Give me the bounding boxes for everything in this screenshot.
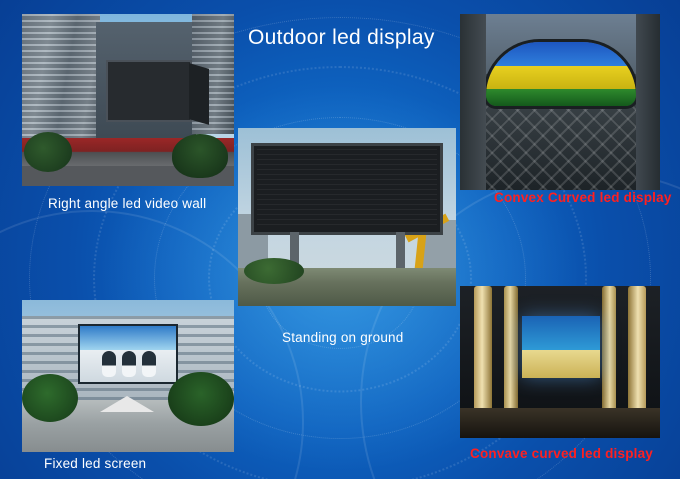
photo-image bbox=[460, 14, 660, 190]
photo-image bbox=[22, 300, 234, 452]
page-title: Outdoor led display bbox=[248, 26, 435, 50]
tree-left bbox=[22, 374, 78, 422]
photo-concave-curved-led-display bbox=[460, 286, 660, 438]
bush bbox=[244, 258, 304, 284]
screen-content-penguin-3 bbox=[142, 351, 156, 377]
screen-content-lower bbox=[522, 350, 600, 378]
photo-image bbox=[238, 128, 456, 306]
screen-content-sky bbox=[80, 326, 176, 350]
concave-led-screen bbox=[522, 316, 600, 378]
caption-fixed-led-screen: Fixed led screen bbox=[44, 456, 146, 471]
screen-content-field bbox=[486, 66, 636, 89]
atrium-floor bbox=[460, 408, 660, 438]
led-video-wall-side bbox=[189, 63, 209, 125]
photo-fixed-led-screen bbox=[22, 300, 234, 452]
tree-left bbox=[24, 132, 72, 172]
screen-content-penguin-1 bbox=[102, 351, 116, 377]
facade-right-wing bbox=[636, 14, 660, 190]
photo-convex-curved-led-display bbox=[460, 14, 660, 190]
caption-concave-curved-led-display: Convave curved led display bbox=[470, 446, 653, 461]
fixed-led-screen-panel bbox=[80, 326, 176, 382]
tree-right bbox=[168, 372, 234, 426]
photo-image bbox=[22, 14, 234, 186]
caption-convex-curved-led-display: Convex Curved led display bbox=[494, 190, 672, 205]
poster-canvas: Outdoor led display Right angle led vide… bbox=[0, 0, 680, 479]
caption-right-angle-led-video-wall: Right angle led video wall bbox=[48, 196, 206, 211]
photo-standing-on-ground bbox=[238, 128, 456, 306]
lattice-facade-pattern bbox=[460, 100, 660, 190]
high-rise-tower-left bbox=[22, 14, 100, 146]
tree-right bbox=[172, 134, 228, 178]
screen-content-penguin-2 bbox=[122, 351, 136, 377]
screen-content-sky bbox=[486, 42, 636, 66]
facade-left-wing bbox=[460, 14, 486, 190]
screen-content-upper bbox=[522, 316, 600, 350]
freestanding-led-screen bbox=[254, 146, 440, 232]
led-video-wall-face bbox=[106, 60, 192, 122]
photo-right-angle-led-video-wall bbox=[22, 14, 234, 186]
caption-standing-on-ground: Standing on ground bbox=[282, 330, 403, 345]
convex-led-screen bbox=[486, 42, 636, 106]
screen-content-grass bbox=[486, 89, 636, 106]
photo-image bbox=[460, 286, 660, 438]
